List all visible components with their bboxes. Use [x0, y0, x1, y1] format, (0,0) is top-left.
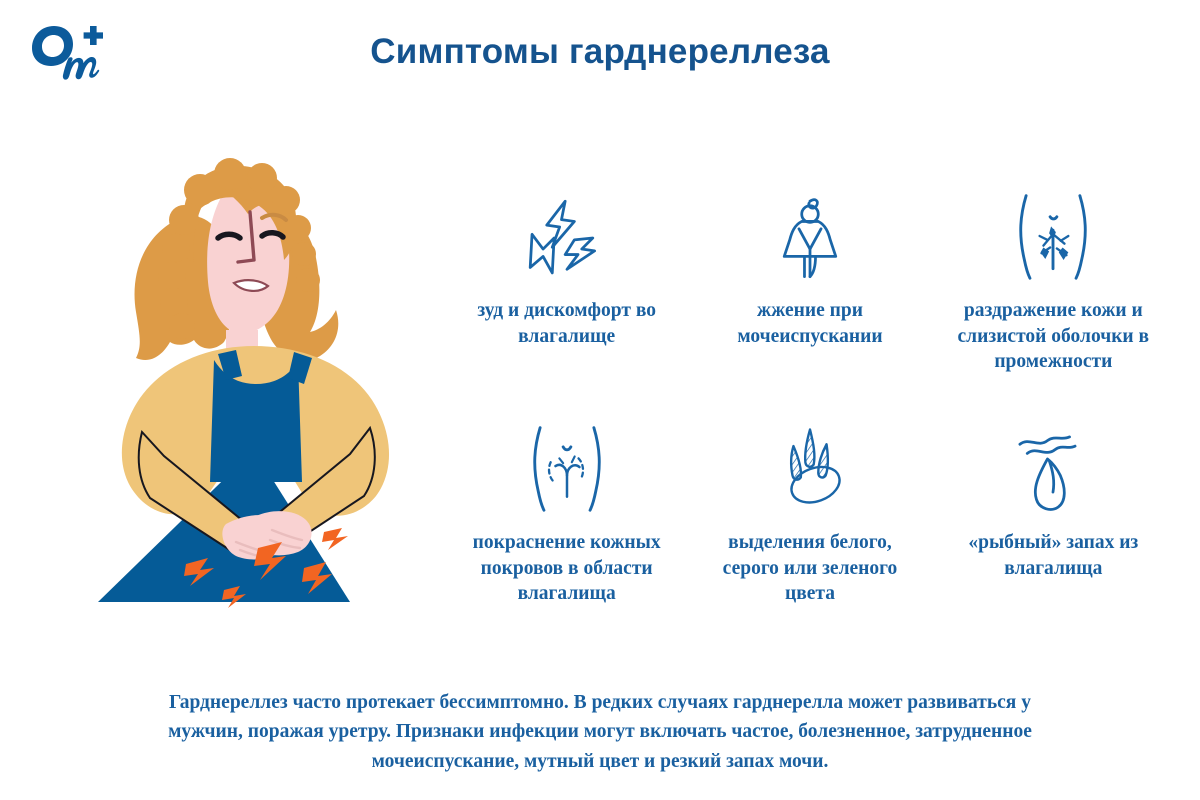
reddened-abdomen-icon — [519, 404, 615, 516]
symptom-item-3[interactable]: раздражение кожи и слизистой оболочки в … — [932, 172, 1175, 404]
symptom-item-5[interactable]: выделения белого, серого или зеленого цв… — [688, 404, 931, 607]
footer-note: Гарднереллез часто протекает бессимптомн… — [150, 688, 1050, 776]
symptom-label-3: раздражение кожи и слизистой оболочки в … — [953, 298, 1153, 375]
odor-droplet-icon — [1007, 404, 1099, 516]
female-figure-icon — [764, 172, 856, 284]
discharge-drops-icon — [764, 404, 856, 516]
symptom-label-4: покраснение кожных покровов в области вл… — [462, 530, 672, 607]
symptom-item-1[interactable]: зуд и дискомфорт во влагалище — [445, 172, 688, 404]
woman-illustration — [58, 150, 458, 650]
symptom-label-2: жжение при мочеиспускании — [722, 298, 897, 349]
symptom-item-6[interactable]: «рыбный» запах из влагалища — [932, 404, 1175, 607]
irritated-abdomen-icon — [1005, 172, 1101, 284]
symptom-label-5: выделения белого, серого или зеленого цв… — [722, 530, 897, 607]
symptom-item-4[interactable]: покраснение кожных покровов в области вл… — [445, 404, 688, 607]
symptoms-grid: зуд и дискомфорт во влагалище жже — [445, 172, 1175, 607]
symptom-label-6: «рыбный» запах из влагалища — [953, 530, 1153, 581]
symptom-label-1: зуд и дискомфорт во влагалище — [462, 298, 672, 349]
page-title: Симптомы гарднереллеза — [0, 32, 1200, 72]
lightning-bolts-icon — [521, 172, 613, 284]
infographic-page: Симптомы гарднереллеза — [0, 0, 1200, 800]
symptom-item-2[interactable]: жжение при мочеиспускании — [688, 172, 931, 404]
